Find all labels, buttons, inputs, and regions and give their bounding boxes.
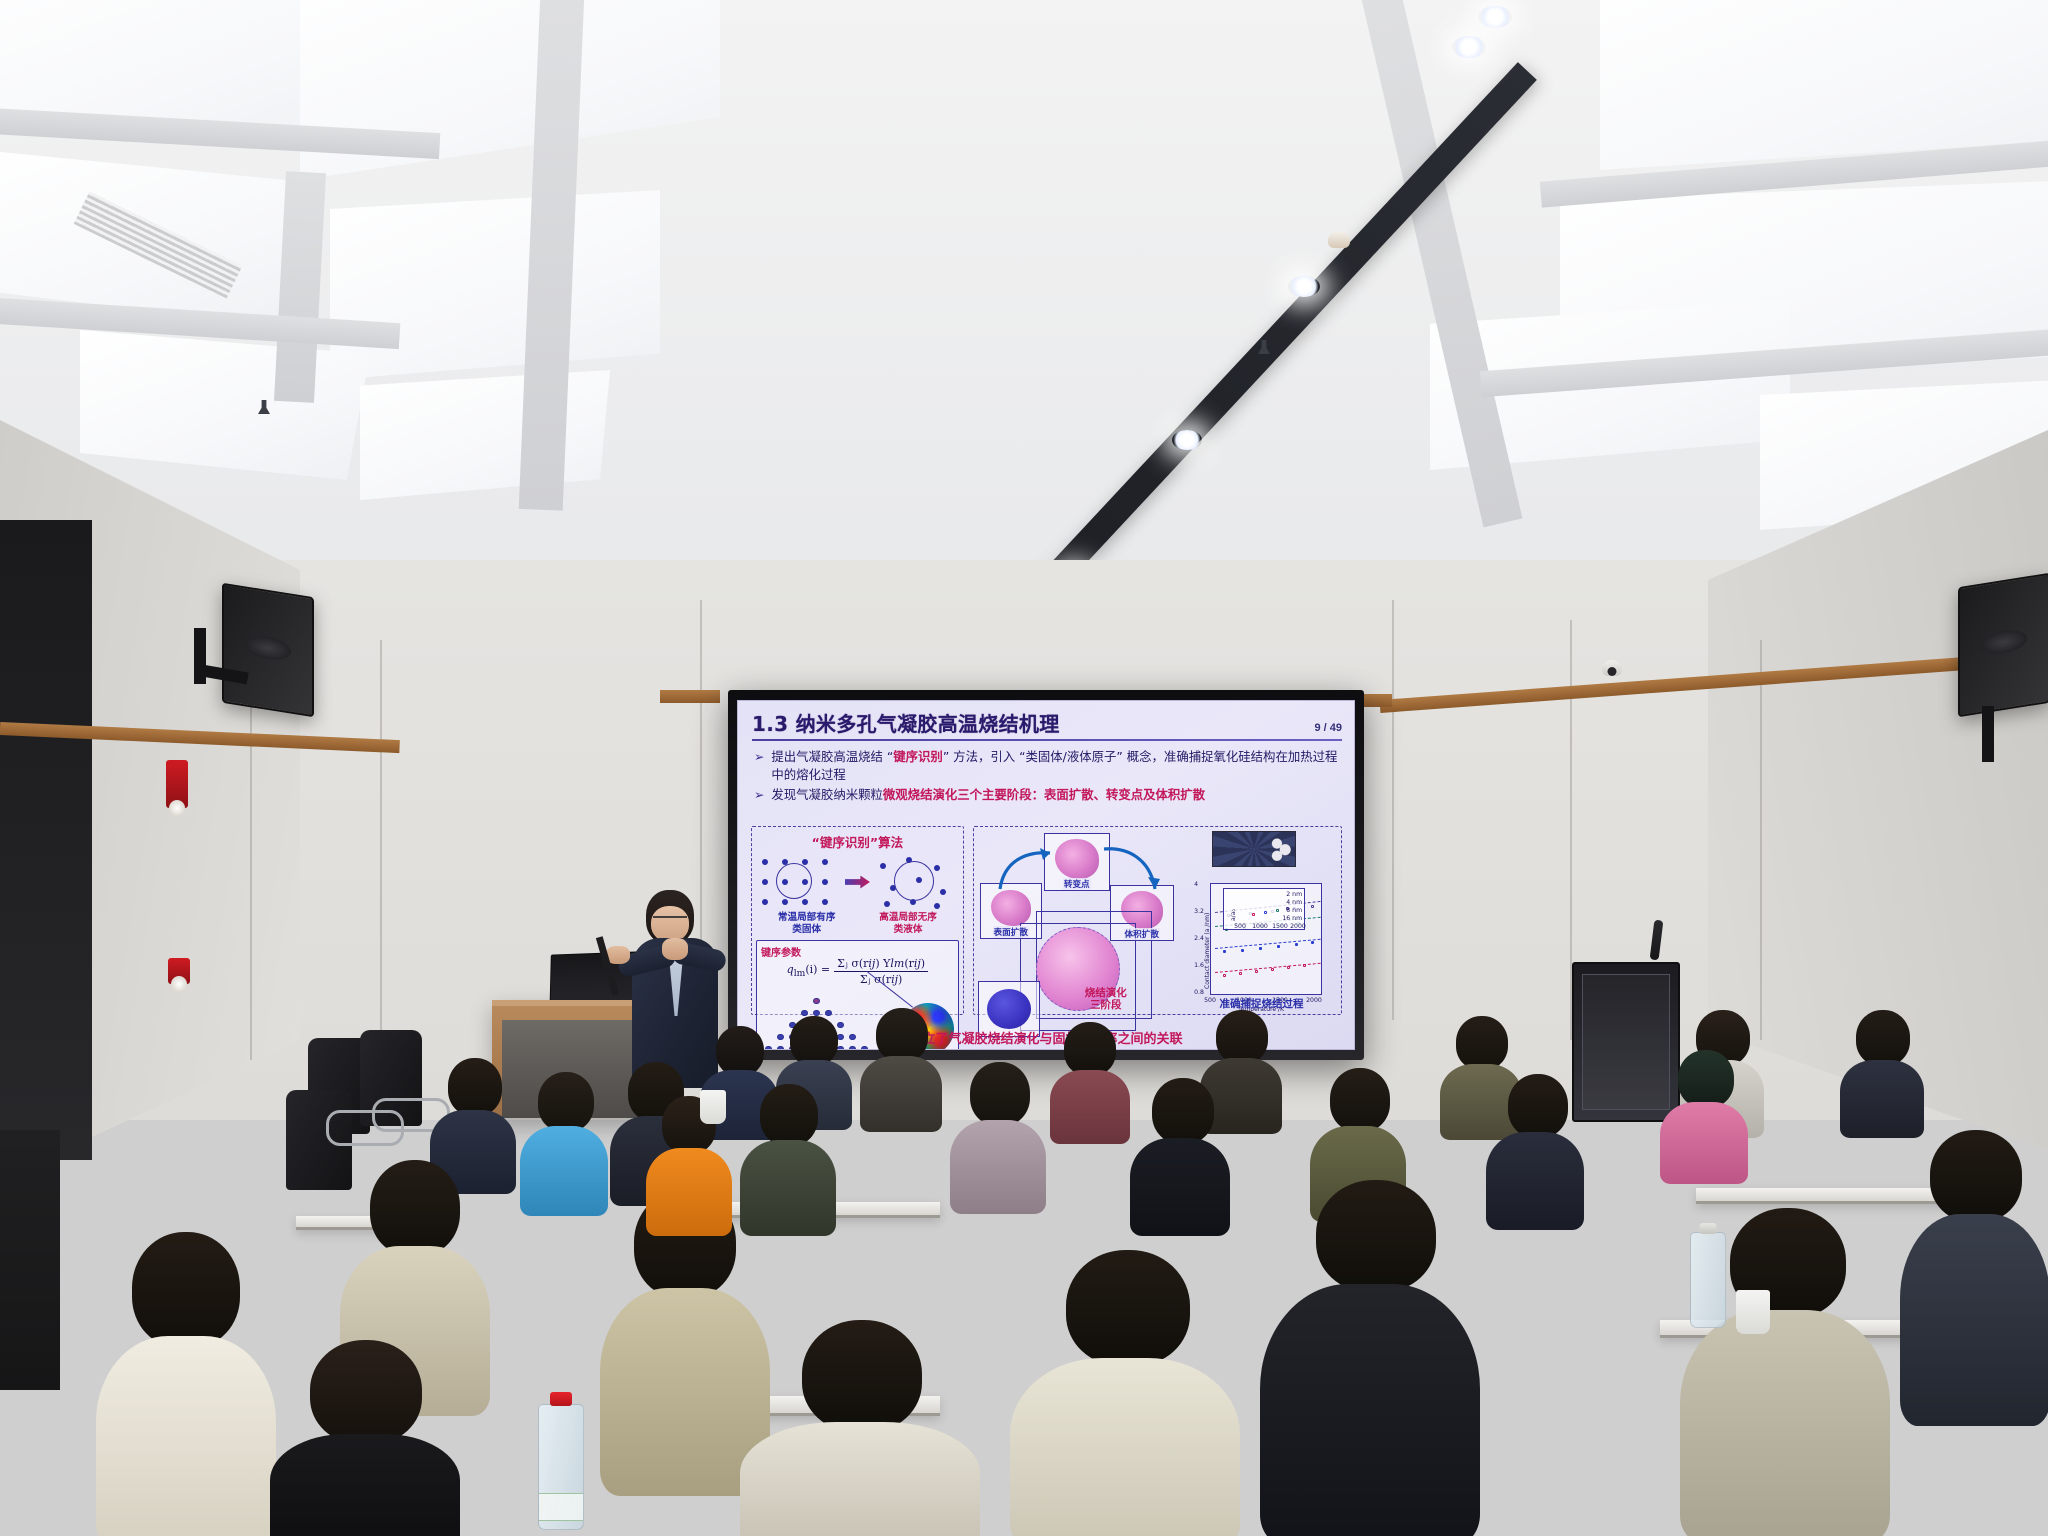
inset-ylabel: a/a₀ [1230,909,1237,921]
speaker-cone [245,633,291,662]
audience-member [96,1232,276,1536]
audience-head [310,1340,422,1444]
track-spotlight [1288,276,1320,297]
security-camera [1602,660,1622,676]
audience-torso [646,1148,732,1236]
audience-torso [1486,1132,1584,1230]
lattice-comparison [756,855,959,909]
audience-member [1840,1010,1924,1134]
audience-head [1152,1078,1214,1144]
bottle-cap [550,1392,572,1406]
wall-seam [1760,640,1762,1040]
bullet-text: 提出气凝胶高温烧结 “键序识别” 方法，引入 “类固体/液体原子” 概念，准确捕… [771,748,1340,784]
audience-member [1130,1078,1230,1234]
audience-torso [1660,1102,1748,1184]
water-bottle[interactable] [1690,1232,1726,1328]
inset-xtick: 2000 [1290,923,1306,930]
audience-torso [1010,1358,1240,1536]
wall-wood-trim [660,690,720,703]
recessed-light-panel [80,330,370,480]
y-axis-title: Contact diameter (a /nm) [1204,913,1211,989]
audience-torso [740,1422,980,1536]
y-tick-label: 2.4 [1194,935,1204,942]
audience-head [132,1232,240,1348]
fire-alarm-strobe [168,958,190,984]
wall-seam [1392,600,1394,1020]
speaker-cone [1981,628,2027,657]
audience-head [448,1058,502,1116]
y-tick-label: 4 [1194,881,1198,888]
audience-torso [1900,1214,2048,1426]
inset-legend-entry: 8 nm [1286,907,1302,914]
slide-bullet: ➢ 提出气凝胶高温烧结 “键序识别” 方法，引入 “类固体/液体原子” 概念，准… [754,748,1340,784]
audience-head [1316,1180,1436,1292]
audience-member [1010,1250,1240,1536]
slide-header: 1.3 纳米多孔气凝胶高温烧结机理 9 / 49 [738,701,1354,740]
sintering-evolution-panel: 表面扩散 转变点 体积扩散 [973,826,1342,1015]
inset-xtick: 1500 [1272,923,1288,930]
slide-title: 1.3 纳米多孔气凝胶高温烧结机理 [752,708,1060,737]
bullet-arrow-icon: ➢ [754,748,764,784]
presentation-slide: 1.3 纳米多孔气凝胶高温烧结机理 9 / 49 ➢ 提出气凝胶高温烧结 “键序… [737,700,1355,1050]
audience-member [740,1320,980,1536]
audience-torso [1680,1310,1890,1536]
audience-torso [950,1120,1046,1214]
bottle-cap [1700,1223,1717,1234]
transform-arrow-icon [845,876,870,889]
audience-head [790,1016,838,1066]
bullet-arrow-icon: ➢ [754,786,764,804]
audience-head [1330,1068,1390,1132]
recessed-light-panel [360,370,610,500]
audience-member [950,1062,1046,1212]
presenter-hand-right [662,938,688,960]
initial-particle-circle [987,989,1031,1029]
audience-head [760,1084,818,1146]
sintering-chart-column: a/a₀ 500 1000 1500 2000 2 nm 4 nm [1186,831,1337,1010]
audience-head [370,1160,460,1256]
slide-page-number: 9 / 49 [1314,722,1342,734]
stage-label-volume: 体积扩散 [1124,928,1160,940]
arrow-to-transition-icon [996,845,1056,893]
bottle-label [539,1493,583,1521]
smoke-detector [1328,232,1350,248]
slide-bullet: ➢ 发现气凝胶纳米颗粒微观烧结演化三个主要阶段：表面扩散、转变点及体积扩散 [754,786,1340,804]
audience-torso [860,1056,942,1132]
audience-head [802,1320,922,1432]
slide-bullet-list: ➢ 提出气凝胶高温烧结 “键序识别” 方法，引入 “类固体/液体原子” 概念，准… [738,740,1354,808]
audience-head [1066,1250,1190,1366]
caption-solid-like: 常温局部有序 类固体 [778,912,836,936]
audience-head [1678,1050,1734,1108]
audience-torso [1050,1070,1130,1144]
wall-speaker-right [1958,573,2048,718]
audience-torso [96,1336,276,1536]
arrow-to-volume-icon [1100,843,1160,895]
left-doorway [0,520,92,1160]
inset-legend-entry: 16 nm [1282,915,1302,922]
wall-seam [380,640,382,1040]
y-tick-label: 1.6 [1194,962,1204,969]
y-tick-label: 0.8 [1194,989,1204,996]
fire-alarm-strobe [166,760,188,808]
title-underline [752,739,1342,741]
audience-torso [1130,1138,1230,1236]
track-spotlight [1452,36,1486,58]
lattice-captions: 常温局部有序 类固体 高温局部无序 类液体 [756,912,959,936]
audience-head [1856,1010,1910,1066]
y-tick-label: 3.2 [1194,908,1204,915]
audience-member [520,1072,608,1212]
slide-figure-area: “键序识别”算法 [751,826,1342,1015]
projection-screen[interactable]: 1.3 纳米多孔气凝胶高温烧结机理 9 / 49 ➢ 提出气凝胶高温烧结 “键序… [728,690,1364,1060]
audience-torso [1260,1284,1480,1536]
paper-cup[interactable] [700,1090,726,1124]
ceiling [0,0,2048,640]
audience-member [1260,1180,1480,1536]
presenter-face [651,906,689,942]
ordered-lattice-diagram [756,855,839,909]
bond-order-algorithm-panel: “键序识别”算法 [751,826,964,1015]
inset-xtick: 500 [1234,923,1246,930]
audience-member [1660,1050,1748,1180]
audience-head [538,1072,594,1132]
audience-member [1900,1130,2048,1420]
audience-torso [520,1126,608,1216]
audience-member [1486,1074,1584,1228]
bond-order-formula: qlm(i) = Σⱼ σ(r𝑖𝑗) Y𝑙𝑚(r𝑖𝑗) Σⱼ σ(r𝑖𝑗) [761,957,954,986]
chart-caption: 准确捕捉烧结过程 [1186,996,1337,1011]
water-bottle[interactable] [538,1404,584,1530]
inset-legend-entry: 4 nm [1286,899,1302,906]
stage-label-transition: 转变点 [1063,878,1091,890]
audience-torso [1840,1060,1924,1138]
tem-micrograph-image [1212,831,1296,867]
inset-legend-entry: 2 nm [1286,891,1302,898]
audience-torso [270,1434,460,1536]
recessed-light-panel [330,190,660,380]
audience-head [876,1008,928,1062]
audience-head [1508,1074,1568,1138]
speaker-bracket [1982,706,1994,762]
inset-xtick: 1000 [1252,923,1268,930]
contact-diameter-plot: a/a₀ 500 1000 1500 2000 2 nm 4 nm [1210,883,1322,995]
wall-speaker-left [222,583,314,718]
audience-head [1456,1016,1508,1070]
audience-head [1216,1010,1268,1064]
paper-cup[interactable] [1736,1290,1770,1334]
audience-head [1930,1130,2022,1222]
sintering-stage-diagram: 表面扩散 转变点 体积扩散 [978,831,1186,1010]
bullet-text: 发现气凝胶纳米颗粒微观烧结演化三个主要阶段：表面扩散、转变点及体积扩散 [771,786,1205,804]
glasses-icon [653,916,687,924]
track-spotlight [1478,6,1512,28]
audience-member [1050,1022,1130,1140]
audience-member [860,1008,942,1128]
track-spotlight [1172,430,1202,450]
recessed-light-panel [1600,0,2048,170]
left-doorway-lower [0,1130,60,1390]
plot-inset: a/a₀ 500 1000 1500 2000 2 nm 4 nm [1223,888,1305,930]
algorithm-title: “键序识别”算法 [756,832,959,851]
audience-head [970,1062,1030,1126]
lecture-hall-scene: 1.3 纳米多孔气凝胶高温烧结机理 9 / 49 ➢ 提出气凝胶高温烧结 “键序… [0,0,2048,1536]
stage-label-surface: 表面扩散 [993,926,1029,938]
audience-head [716,1026,764,1076]
formula-numerator: Σⱼ σ(r𝑖𝑗) Y𝑙𝑚(r𝑖𝑗) [834,957,928,972]
audience-member [270,1340,460,1536]
audience-head [1064,1022,1116,1076]
evolution-caption: 烧结演化 三阶段 [1054,987,1158,1012]
disordered-lattice-diagram [876,855,959,909]
caption-liquid-like: 高温局部无序 类液体 [879,912,937,936]
speaker-bracket [194,628,206,684]
